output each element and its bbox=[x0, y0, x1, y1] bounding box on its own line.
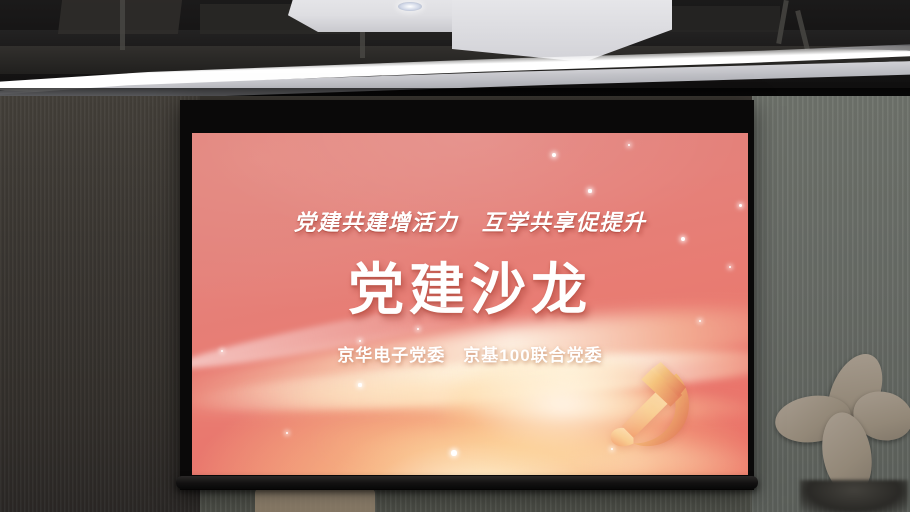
slide-subtitle: 党建共建增活力 互学共享促提升 bbox=[192, 205, 748, 237]
sparkle bbox=[739, 204, 742, 207]
furniture bbox=[255, 489, 375, 512]
sparkle bbox=[628, 144, 631, 147]
light-ribbon bbox=[232, 376, 748, 425]
sparkle bbox=[611, 448, 613, 450]
screen-weight-bar bbox=[176, 476, 758, 489]
left-wall bbox=[0, 96, 200, 512]
sparkle bbox=[451, 450, 456, 455]
center-glow bbox=[442, 351, 682, 461]
light-ribbon bbox=[192, 289, 748, 431]
slide-main-title: 党建沙龙 bbox=[192, 245, 748, 326]
plant-decoration bbox=[800, 480, 908, 512]
sparkle bbox=[359, 340, 361, 342]
sparkle bbox=[729, 266, 732, 269]
bottom-warm-glow bbox=[192, 345, 748, 475]
sparkle bbox=[681, 237, 685, 241]
ceiling-pipe bbox=[120, 0, 125, 50]
sparkle bbox=[221, 350, 224, 353]
sparkle bbox=[588, 189, 591, 192]
light-ribbon bbox=[311, 421, 748, 475]
sparkle bbox=[699, 320, 702, 323]
projection-screen: 党建共建增活力 互学共享促提升 党建沙龙 京华电子党委 京基100联合党委 bbox=[192, 133, 748, 475]
slide-text-block: 党建共建增活力 互学共享促提升 党建沙龙 京华电子党委 京基100联合党委 bbox=[192, 133, 748, 475]
screen-top-glow bbox=[192, 133, 748, 475]
sparkle bbox=[552, 153, 556, 157]
slide-organizations: 京华电子党委 京基100联合党委 bbox=[192, 341, 748, 366]
flower-wall-art bbox=[775, 352, 905, 492]
downlight-icon bbox=[398, 2, 422, 11]
conference-room-scene: 党建共建增活力 互学共享促提升 党建沙龙 京华电子党委 京基100联合党委 bbox=[0, 0, 910, 512]
sparkle bbox=[417, 328, 419, 330]
light-ribbon bbox=[192, 339, 748, 422]
sparkle bbox=[286, 432, 289, 435]
hammer-and-sickle-cpc-emblem bbox=[592, 358, 710, 463]
light-ribbon bbox=[192, 273, 591, 379]
sparkle bbox=[358, 383, 361, 386]
